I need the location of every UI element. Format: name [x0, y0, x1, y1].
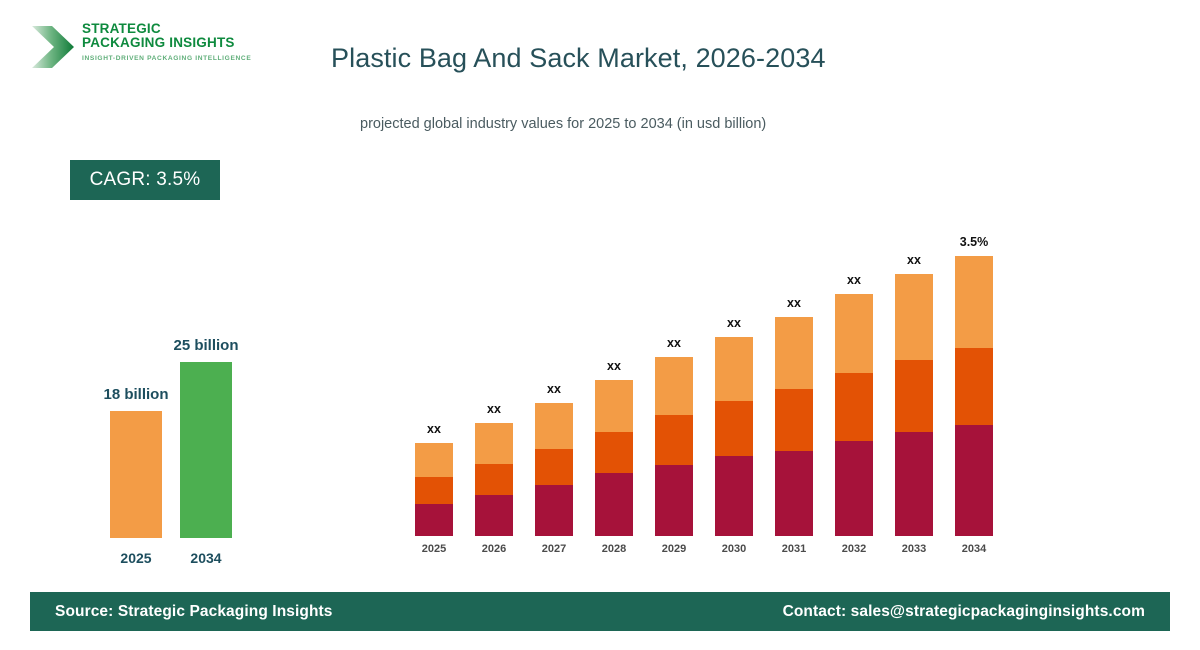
stacked-bar-value-2030: xx	[704, 316, 764, 330]
stacked-bar-year-2033: 2033	[884, 543, 944, 555]
footer-source: Source: Strategic Packaging Insights	[55, 603, 333, 621]
stacked-bar-2026-segment-top	[475, 423, 513, 464]
stacked-bar-2033-segment-middle	[895, 360, 933, 432]
stacked-bar-2030	[715, 337, 753, 536]
stacked-bar-2028-segment-bottom	[595, 473, 633, 536]
stacked-bar-2034	[955, 256, 993, 536]
stacked-bar-value-2028: xx	[584, 359, 644, 373]
stacked-bar-year-2025: 2025	[404, 543, 464, 555]
stacked-bar-2031-segment-top	[775, 317, 813, 389]
stacked-bar-value-2031: xx	[764, 296, 824, 310]
stacked-bar-value-2026: xx	[464, 402, 524, 416]
stacked-bar-2032-segment-bottom	[835, 441, 873, 536]
stacked-bar-2031-segment-middle	[775, 389, 813, 451]
comparison-bar-2034	[180, 362, 232, 538]
stacked-bar-2031-segment-bottom	[775, 451, 813, 536]
stacked-bar-2031	[775, 317, 813, 536]
comparison-bar-2025	[110, 411, 162, 538]
page-subtitle: projected global industry values for 202…	[360, 116, 766, 132]
comparison-bar-chart: 18 billion202525 billion2034	[60, 315, 280, 570]
page-title: Plastic Bag And Sack Market, 2026-2034	[331, 43, 826, 74]
stacked-bar-2027-segment-middle	[535, 449, 573, 485]
stacked-bar-2034-segment-top	[955, 256, 993, 348]
stacked-bar-2028-segment-top	[595, 380, 633, 432]
stacked-bar-year-2027: 2027	[524, 543, 584, 555]
stacked-bar-2033-segment-bottom	[895, 432, 933, 536]
green-chevron-icon	[30, 23, 76, 71]
stacked-bar-2029	[655, 357, 693, 536]
stacked-bar-year-2031: 2031	[764, 543, 824, 555]
stacked-bar-2029-segment-bottom	[655, 465, 693, 536]
stacked-bar-2028	[595, 380, 633, 536]
stacked-bar-2025	[415, 443, 453, 536]
brand-wordmark: STRATEGIC PACKAGING INSIGHTS INSIGHT-DRI…	[82, 22, 280, 62]
comparison-bar-year-2034: 2034	[166, 550, 246, 566]
stacked-bar-2034-segment-middle	[955, 348, 993, 425]
footer-contact: Contact: sales@strategicpackaginginsight…	[783, 603, 1145, 621]
stacked-bar-year-2028: 2028	[584, 543, 644, 555]
stacked-bar-2033-segment-top	[895, 274, 933, 360]
stacked-bar-2026-segment-middle	[475, 464, 513, 495]
stacked-bar-2030-segment-middle	[715, 401, 753, 456]
stacked-bar-2027-segment-top	[535, 403, 573, 449]
brand-logo[interactable]: STRATEGIC PACKAGING INSIGHTS INSIGHT-DRI…	[30, 18, 280, 80]
stacked-bar-2028-segment-middle	[595, 432, 633, 473]
stacked-bar-2032-segment-top	[835, 294, 873, 373]
stacked-bar-value-2034: 3.5%	[944, 235, 1004, 249]
stacked-bar-year-2034: 2034	[944, 543, 1004, 555]
stacked-bar-2025-segment-middle	[415, 477, 453, 504]
footer-bar: Source: Strategic Packaging Insights Con…	[30, 592, 1170, 631]
brand-tagline: INSIGHT-DRIVEN PACKAGING INTELLIGENCE	[82, 55, 280, 62]
stacked-bar-2032	[835, 294, 873, 536]
stacked-bar-value-2033: xx	[884, 253, 944, 267]
stacked-bar-year-2030: 2030	[704, 543, 764, 555]
stacked-bar-2027-segment-bottom	[535, 485, 573, 536]
stacked-bar-2026-segment-bottom	[475, 495, 513, 536]
stacked-bar-year-2032: 2032	[824, 543, 884, 555]
stacked-bar-year-2026: 2026	[464, 543, 524, 555]
stacked-bar-2029-segment-top	[655, 357, 693, 415]
stacked-bar-value-2027: xx	[524, 382, 584, 396]
stacked-bar-2034-segment-bottom	[955, 425, 993, 536]
stacked-bar-value-2029: xx	[644, 336, 704, 350]
comparison-bar-value-2034: 25 billion	[146, 337, 266, 354]
stacked-bar-2025-segment-top	[415, 443, 453, 477]
forecast-stacked-bar-chart: xx2025xx2026xx2027xx2028xx2029xx2030xx20…	[405, 200, 1015, 556]
stacked-bar-2026	[475, 423, 513, 536]
stacked-bar-2025-segment-bottom	[415, 504, 453, 536]
stacked-bar-value-2032: xx	[824, 273, 884, 287]
stacked-bar-2030-segment-top	[715, 337, 753, 401]
infographic-canvas: STRATEGIC PACKAGING INSIGHTS INSIGHT-DRI…	[0, 0, 1200, 650]
stacked-bar-value-2025: xx	[404, 422, 464, 436]
comparison-bar-year-2025: 2025	[96, 550, 176, 566]
stacked-bar-2033	[895, 274, 933, 536]
stacked-bar-2032-segment-middle	[835, 373, 873, 441]
cagr-badge-label: CAGR: 3.5%	[90, 169, 201, 191]
comparison-bar-value-2025: 18 billion	[76, 386, 196, 403]
stacked-bar-2027	[535, 403, 573, 536]
stacked-bar-2029-segment-middle	[655, 415, 693, 465]
stacked-bar-year-2029: 2029	[644, 543, 704, 555]
brand-name-line2: PACKAGING INSIGHTS	[82, 36, 280, 50]
stacked-bar-2030-segment-bottom	[715, 456, 753, 536]
cagr-badge: CAGR: 3.5%	[70, 160, 220, 200]
brand-name-line1: STRATEGIC	[82, 22, 280, 36]
